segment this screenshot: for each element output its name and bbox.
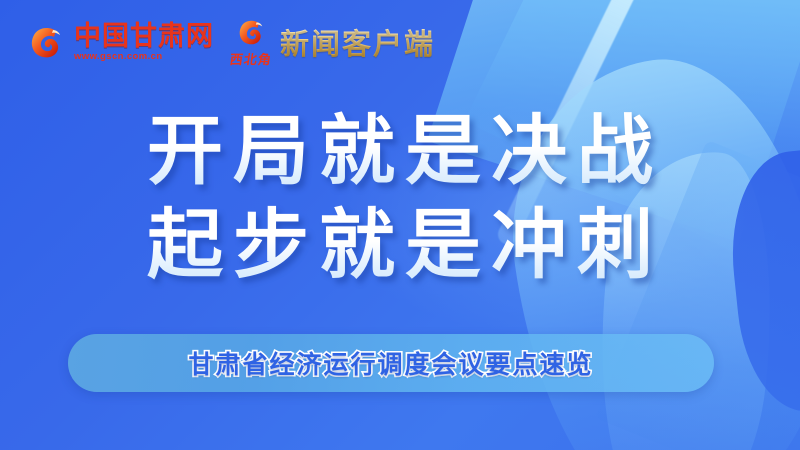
logo-gansu-net[interactable]: 中国甘肃网 www.gscn.com.cn xyxy=(26,22,214,62)
gansu-net-url: www.gscn.com.cn xyxy=(74,52,163,62)
xibeijiao-block: 西北角 xyxy=(230,16,272,68)
header-logo-bar: 中国甘肃网 www.gscn.com.cn xyxy=(26,16,435,68)
xibeijiao-c-mark-icon xyxy=(235,16,267,48)
poster-canvas: 中国甘肃网 www.gscn.com.cn xyxy=(0,0,800,450)
xibeijiao-label: 西北角 xyxy=(229,49,274,68)
subtitle-banner: 甘肃省经济运行调度会议要点速览 xyxy=(68,334,714,392)
headline-line-1: 开局就是决战 xyxy=(0,104,800,198)
news-client-label: 新闻客户端 xyxy=(280,21,435,63)
gansu-net-wordmark: 中国甘肃网 www.gscn.com.cn xyxy=(74,23,214,62)
logo-news-client[interactable]: 西北角 新闻客户端 xyxy=(230,16,435,68)
headline-line-2: 起步就是冲刺 xyxy=(0,198,800,292)
headline-block: 开局就是决战 起步就是冲刺 xyxy=(0,104,800,292)
gansu-net-title: 中国甘肃网 xyxy=(74,23,214,50)
subtitle-text: 甘肃省经济运行调度会议要点速览 xyxy=(188,345,593,381)
gansu-net-c-mark-icon xyxy=(26,22,66,62)
